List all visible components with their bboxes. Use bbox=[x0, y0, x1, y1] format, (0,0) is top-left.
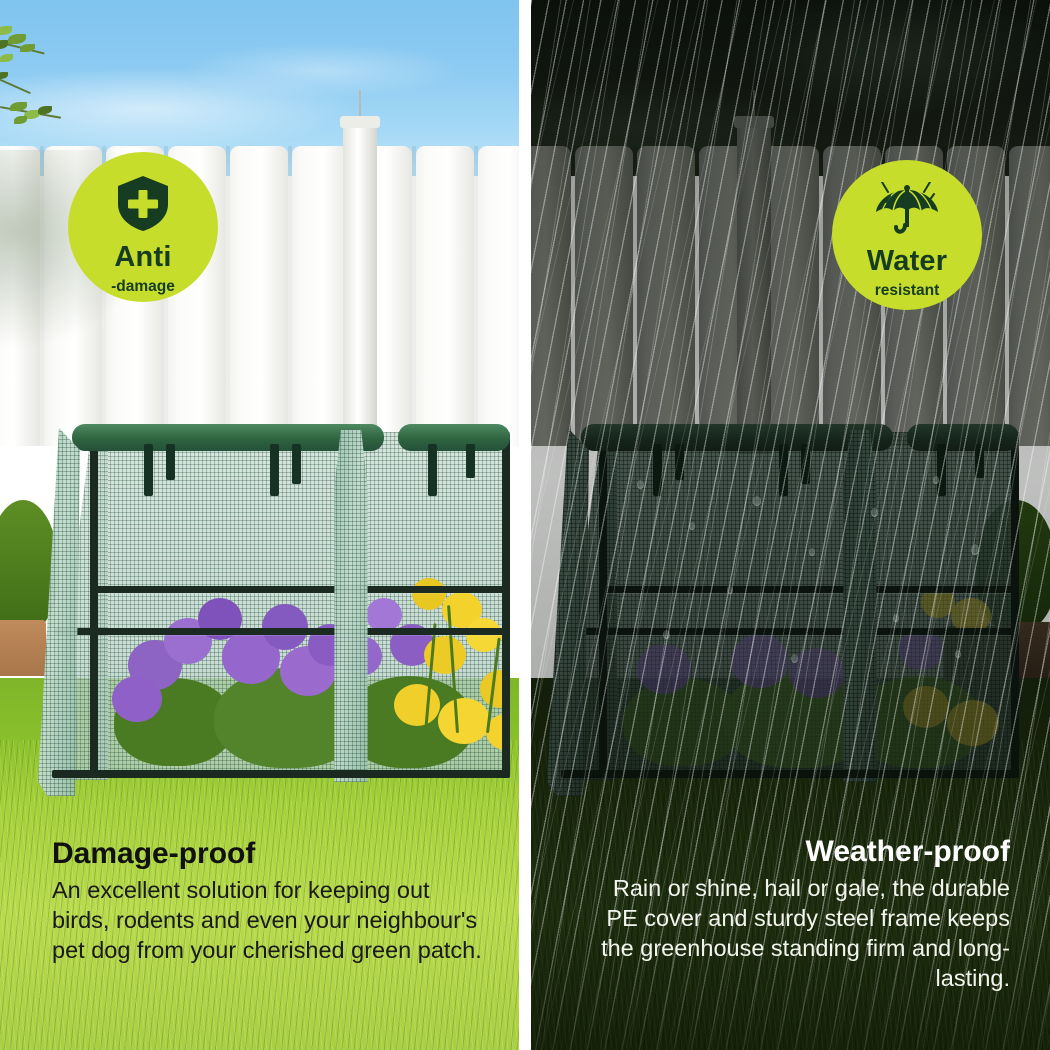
cover-tie-strap bbox=[675, 444, 684, 480]
cover-tie-strap bbox=[653, 444, 662, 496]
rolled-cover-bar-right bbox=[907, 424, 1019, 451]
cover-tie-strap bbox=[937, 444, 946, 496]
cover-tie-strap bbox=[428, 444, 437, 496]
cover-tie-strap bbox=[779, 444, 788, 496]
frame-post-right bbox=[1011, 432, 1019, 777]
greenhouse-sunny bbox=[32, 418, 510, 790]
panel-divider bbox=[519, 0, 531, 1050]
product-feature-image: Anti -damage Damage-proof An excellent s… bbox=[0, 0, 1050, 1050]
rolled-cover-bar-left bbox=[581, 424, 893, 451]
umbrella-rain-icon bbox=[872, 182, 942, 243]
frame-post-right bbox=[502, 432, 510, 777]
frame-post-left bbox=[599, 432, 607, 777]
picket-fence-rainy bbox=[531, 146, 1050, 446]
cover-tie-strap bbox=[466, 444, 475, 478]
caption-right: Weather-proof Rain or shine, hail or gal… bbox=[590, 836, 1010, 993]
badge-title-right: Water bbox=[867, 247, 948, 276]
frame-midrail-upper bbox=[599, 586, 1019, 593]
greenhouse-door-flap-centre bbox=[328, 430, 374, 782]
cover-tie-strap bbox=[801, 444, 810, 484]
badge-subtitle-right: resistant bbox=[875, 283, 940, 299]
caption-title-left: Damage-proof bbox=[52, 838, 482, 870]
cover-tie-strap bbox=[975, 444, 984, 478]
frame-base-rail bbox=[52, 770, 510, 778]
cover-tie-strap bbox=[270, 444, 279, 496]
caption-left: Damage-proof An excellent solution for k… bbox=[52, 838, 482, 965]
panel-left-sunny: Anti -damage Damage-proof An excellent s… bbox=[0, 0, 519, 1050]
caption-title-right: Weather-proof bbox=[590, 836, 1010, 868]
greenhouse-door-flap-left bbox=[547, 428, 589, 796]
tree-branch-icon bbox=[0, 14, 84, 134]
shield-plus-icon bbox=[116, 174, 170, 237]
caption-body-left: An excellent solution for keeping out bi… bbox=[52, 875, 482, 965]
badge-anti-damage: Anti -damage bbox=[68, 152, 218, 302]
badge-title-left: Anti bbox=[114, 243, 171, 272]
rolled-cover-bar-right bbox=[398, 424, 510, 451]
cover-tie-strap bbox=[292, 444, 301, 484]
frame-midrail-lower bbox=[563, 628, 1019, 635]
badge-subtitle-left: -damage bbox=[111, 279, 175, 295]
greenhouse-door-flap-left bbox=[38, 428, 80, 796]
rolled-cover-bar-left bbox=[72, 424, 384, 451]
panel-right-rainy: Water resistant Weather-proof Rain or sh… bbox=[531, 0, 1050, 1050]
frame-base-rail bbox=[561, 770, 1019, 778]
frame-midrail-lower bbox=[54, 628, 510, 635]
badge-water-resistant: Water resistant bbox=[832, 160, 982, 310]
caption-body-right: Rain or shine, hail or gale, the durable… bbox=[590, 873, 1010, 993]
greenhouse-rainy bbox=[541, 418, 1019, 790]
cover-tie-strap bbox=[166, 444, 175, 480]
frame-midrail-upper bbox=[90, 586, 510, 593]
frame-post-left bbox=[90, 432, 98, 777]
greenhouse-door-flap-centre bbox=[837, 430, 883, 782]
cover-tie-strap bbox=[144, 444, 153, 496]
